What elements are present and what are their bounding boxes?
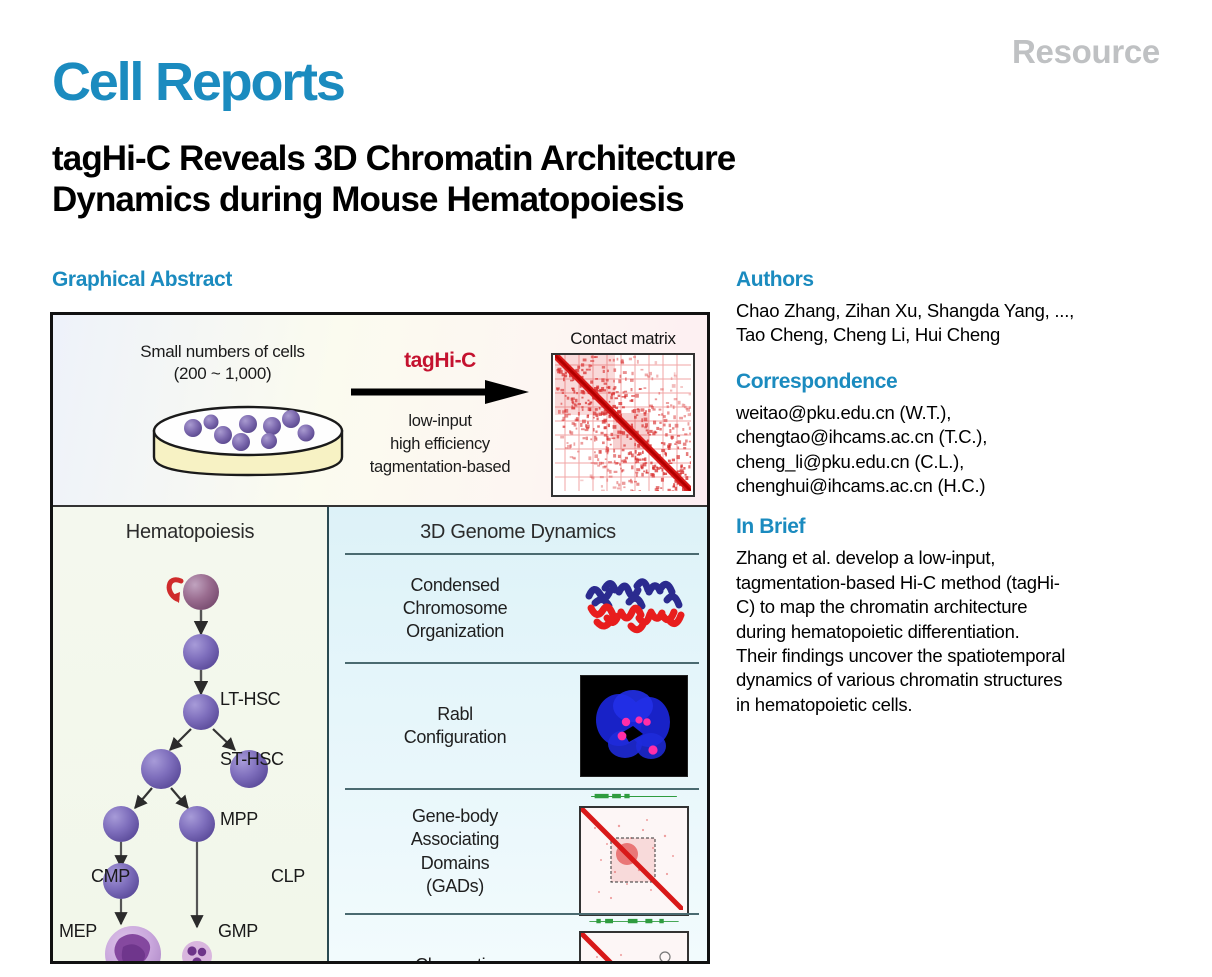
in-brief-line-7: in hematopoietic cells. [736, 693, 1176, 717]
genome-dynamics-panel: 3D Genome Dynamics Condensed Chromosome … [329, 507, 707, 961]
authors-list: Chao Zhang, Zihan Xu, Shangda Yang, ...,… [736, 299, 1176, 348]
rabl-nucleus-fish-image [569, 675, 699, 777]
row3-line2: Associating [345, 828, 565, 851]
contact-matrix-image [551, 353, 695, 497]
method-feature-3: tagmentation-based [345, 456, 535, 479]
in-brief-line-5: Their findings uncover the spatiotempora… [736, 644, 1176, 668]
method-arrow-group: tagHi-C low-input high efficiency tagmen… [345, 349, 535, 478]
correspondence-line-2[interactable]: chengtao@ihcams.ac.cn (T.C.), [736, 425, 1176, 449]
hematopoiesis-lineage-diagram [53, 507, 327, 964]
row1-line3: Organization [345, 620, 565, 643]
method-feature-1: low-input [345, 410, 535, 433]
method-features: low-input high efficiency tagmentation-b… [345, 410, 535, 478]
graphical-abstract-heading: Graphical Abstract [52, 268, 232, 292]
page-title: tagHi-C Reveals 3D Chromatin Architectur… [52, 138, 1012, 221]
hematopoiesis-panel: Hematopoiesis [53, 507, 329, 961]
in-brief-line-6: dynamics of various chromatin structures [736, 668, 1176, 692]
contact-matrix-group: Contact matrix [548, 329, 698, 497]
correspondence-line-4[interactable]: chenghui@ihcams.ac.cn (H.C.) [736, 474, 1176, 498]
correspondence-line-1[interactable]: weitao@pku.edu.cn (W.T.), [736, 401, 1176, 425]
journal-logo: Cell Reports [52, 55, 344, 109]
method-name-label: tagHi-C [345, 349, 535, 373]
dynamics-row-rabl-configuration: Rabl Configuration [345, 662, 699, 788]
node-label-mpp: MPP [220, 809, 258, 830]
in-brief-heading: In Brief [736, 515, 1176, 539]
in-brief-line-4: during hematopoietic differentiation. [736, 620, 1176, 644]
workflow-panel: Small numbers of cells (200 ~ 1,000) [53, 315, 707, 507]
dynamics-row-chromatin-loops: Chromatin Loops [345, 913, 699, 964]
genome-dynamics-panel-title: 3D Genome Dynamics [329, 521, 707, 544]
node-label-mep: MEP [59, 921, 97, 942]
row3-line4: (GADs) [345, 875, 565, 898]
dynamics-row-4-label: Chromatin Loops [345, 954, 569, 964]
in-brief-text: Zhang et al. develop a low-input, tagmen… [736, 546, 1176, 717]
article-type-label: Resource [1012, 33, 1160, 71]
method-feature-2: high efficiency [345, 433, 535, 456]
genome-dynamics-rows: Condensed Chromosome Organization [345, 553, 699, 955]
authors-line-1: Chao Zhang, Zihan Xu, Shangda Yang, ..., [736, 299, 1176, 323]
node-label-gmp: GMP [218, 921, 258, 942]
figure-lower-panels: Hematopoiesis [53, 507, 707, 961]
dynamics-row-1-label: Condensed Chromosome Organization [345, 574, 569, 643]
contact-matrix-label: Contact matrix [548, 329, 698, 349]
correspondence-line-3[interactable]: cheng_li@pku.edu.cn (C.L.), [736, 450, 1176, 474]
row2-line2: Configuration [345, 726, 565, 749]
node-label-clp: CLP [271, 866, 305, 887]
right-arrow-icon [351, 379, 529, 405]
petri-dish-icon [148, 397, 348, 485]
article-cover-page: Resource Cell Reports tagHi-C Reveals 3D… [0, 0, 1212, 977]
article-metadata-column: Authors Chao Zhang, Zihan Xu, Shangda Ya… [736, 268, 1176, 717]
gad-contact-map-image [569, 788, 699, 916]
in-brief-line-3: C) to map the chromatin architecture [736, 595, 1176, 619]
condensed-chromosome-image [569, 570, 699, 648]
row4-line1: Chromatin [345, 954, 565, 964]
row3-line1: Gene-body [345, 805, 565, 828]
graphical-abstract-figure: Small numbers of cells (200 ~ 1,000) [50, 312, 710, 964]
dynamics-row-2-label: Rabl Configuration [345, 703, 569, 749]
dynamics-row-gads: Gene-body Associating Domains (GADs) [345, 788, 699, 913]
node-label-st-hsc: ST-HSC [220, 749, 284, 770]
node-label-cmp: CMP [91, 866, 130, 887]
correspondence-emails: weitao@pku.edu.cn (W.T.), chengtao@ihcam… [736, 401, 1176, 499]
authors-line-2: Tao Cheng, Cheng Li, Hui Cheng [736, 323, 1176, 347]
title-line-2: Dynamics during Mouse Hematopoiesis [52, 179, 1012, 220]
loops-contact-map-image [569, 913, 699, 964]
correspondence-heading: Correspondence [736, 370, 1176, 394]
in-brief-line-1: Zhang et al. develop a low-input, [736, 546, 1176, 570]
row3-line3: Domains [345, 852, 565, 875]
cells-label-line-1: Small numbers of cells [105, 341, 340, 363]
cells-input-label: Small numbers of cells (200 ~ 1,000) [105, 341, 340, 385]
dynamics-row-condensed-chromosome: Condensed Chromosome Organization [345, 553, 699, 662]
node-label-lt-hsc: LT-HSC [220, 689, 280, 710]
row2-line1: Rabl [345, 703, 565, 726]
in-brief-line-2: tagmentation-based Hi-C method (tagHi- [736, 571, 1176, 595]
cells-label-line-2: (200 ~ 1,000) [105, 363, 340, 385]
row1-line2: Chromosome [345, 597, 565, 620]
dynamics-row-3-label: Gene-body Associating Domains (GADs) [345, 805, 569, 897]
title-line-1: tagHi-C Reveals 3D Chromatin Architectur… [52, 138, 1012, 179]
authors-heading: Authors [736, 268, 1176, 292]
row1-line1: Condensed [345, 574, 565, 597]
